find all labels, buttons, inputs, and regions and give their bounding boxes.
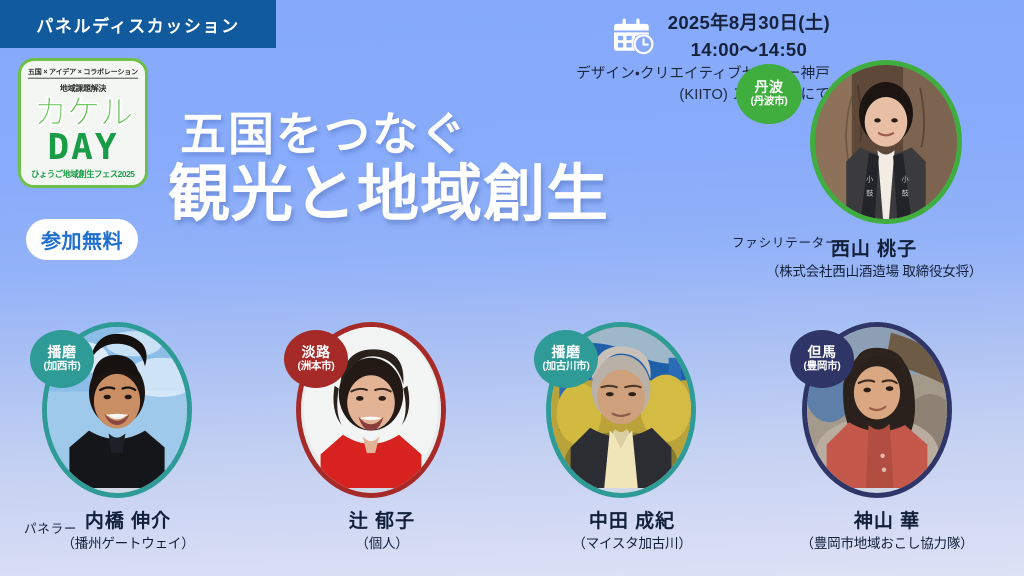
panelist-card: 播磨 (加西市) パネラー 内橋 伸介 （播州ゲートウェイ） [8, 322, 248, 554]
panelist-portrait-wrap: 但馬 (豊岡市) [802, 322, 1012, 498]
facilitator-card: 小 鼓 小 鼓 丹波 (丹波市) ファシリテーター 西山 桃子 （株式会社西山酒… [724, 60, 1024, 282]
panelist-region-badge: 播磨 (加古川市) [534, 330, 598, 388]
header-ribbon-label: パネルディスカッション [36, 12, 239, 37]
panelist-card: 播磨 (加古川市) 中田 成紀 （マイスタ加古川） [512, 322, 752, 554]
page-title: 五国をつなぐ 観光と地域創生 [168, 110, 708, 230]
logo-tagline-top: 五国 × アイデア × コラボレーション [28, 66, 138, 78]
panelist-role-label: パネラー [24, 518, 77, 537]
panelist-badge-region: 播磨 [48, 345, 77, 360]
facilitator-portrait-wrap: 小 鼓 小 鼓 丹波 (丹波市) [810, 60, 1024, 224]
panelist-portrait-wrap: 播磨 (加古川市) [546, 322, 752, 498]
facilitator-org: （株式会社西山酒造場 取締役女将） [724, 263, 1024, 282]
svg-text:鼓: 鼓 [866, 189, 873, 198]
logo-festival-name: ひょうご地域創生フェス2025 [31, 168, 134, 180]
facilitator-role-label: ファシリテーター [732, 232, 838, 251]
panelist-region-badge: 播磨 (加西市) [30, 330, 94, 388]
panelist-badge-region: 但馬 [808, 345, 837, 360]
panelist-region-badge: 淡路 (洲本市) [284, 330, 348, 388]
poster-canvas: パネルディスカッション 五国 × アイデア × コラボレーション 地域課題解決 … [0, 0, 1024, 576]
panelist-region-badge: 但馬 (豊岡市) [790, 330, 854, 388]
panelist-portrait-wrap: 播磨 (加西市) [42, 322, 248, 498]
title-line-2: 観光と地域創生 [168, 160, 708, 229]
free-admission-badge: 参加無料 [26, 219, 138, 260]
event-date: 2025年8月30日(土) [668, 10, 830, 37]
panelist-name: 神山 華 [762, 510, 1012, 535]
svg-text:小: 小 [902, 174, 909, 183]
panelist-badge-city: (洲本市) [298, 361, 335, 373]
panelist-card: 但馬 (豊岡市) 神山 華 （豊岡市地域おこし協力隊） [762, 322, 1012, 554]
free-admission-label: 参加無料 [41, 225, 123, 254]
facilitator-photo: 小 鼓 小 鼓 [815, 65, 957, 219]
panelist-org: （播州ゲートウェイ） [8, 535, 248, 554]
panelist-badge-city: (加西市) [44, 361, 81, 373]
panelist-org: （個人） [262, 535, 502, 554]
panelist-name: 中田 成紀 [512, 510, 752, 535]
svg-text:鼓: 鼓 [902, 189, 909, 198]
panelist-badge-region: 播磨 [552, 345, 581, 360]
panelist-name: 辻 郁子 [262, 510, 502, 535]
panelist-badge-city: (豊岡市) [804, 361, 841, 373]
calendar-clock-icon [614, 17, 656, 57]
panelist-badge-city: (加古川市) [542, 361, 589, 373]
logo-kakeru-text: カケル [34, 98, 133, 129]
facilitator-badge-city: (丹波市) [751, 96, 788, 108]
facilitator-portrait: 小 鼓 小 鼓 [810, 60, 962, 224]
title-line-1: 五国をつなぐ [168, 110, 708, 158]
panelist-badge-region: 淡路 [302, 345, 331, 360]
panelist-org: （豊岡市地域おこし協力隊） [762, 535, 1012, 554]
facilitator-region-badge: 丹波 (丹波市) [736, 64, 802, 124]
header-ribbon: パネルディスカッション [0, 0, 276, 48]
panelist-org: （マイスタ加古川） [512, 535, 752, 554]
kakeru-day-logo: 五国 × アイデア × コラボレーション 地域課題解決 カケル DAY ひょうご… [18, 58, 148, 188]
panelist-card: 淡路 (洲本市) 辻 郁子 （個人） [262, 322, 502, 554]
panelist-portrait-wrap: 淡路 (洲本市) [296, 322, 502, 498]
facilitator-badge-region: 丹波 [755, 80, 784, 95]
logo-day-text: DAY [47, 132, 118, 164]
svg-text:小: 小 [866, 174, 873, 183]
